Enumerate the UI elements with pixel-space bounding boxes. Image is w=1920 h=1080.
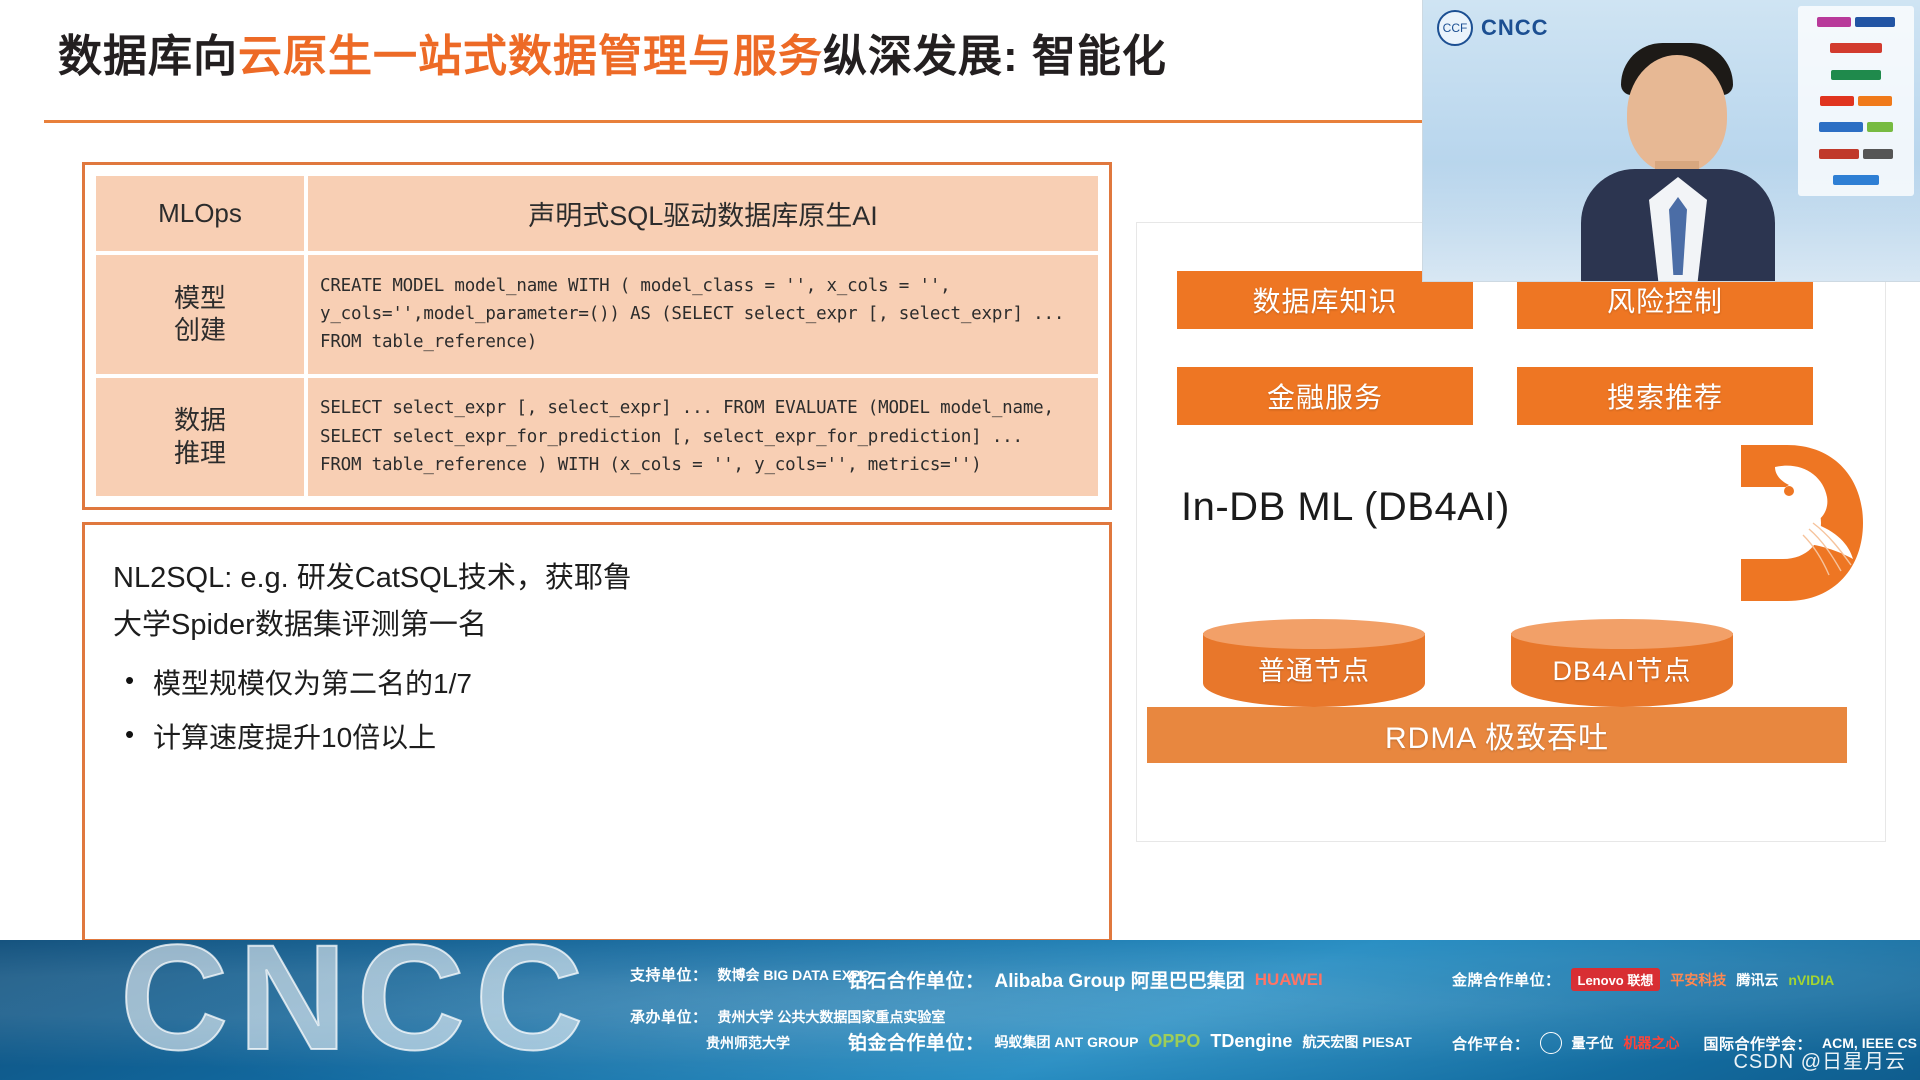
table-row: MLOps 声明式SQL驱动数据库原生AI (96, 176, 1098, 251)
sponsor-logo: 平安科技 (1670, 970, 1726, 990)
sponsor-chip (1858, 96, 1892, 106)
in-db-ml-label: In-DB ML (DB4AI) (1181, 485, 1510, 530)
footer-label: 承办单位： (630, 1006, 708, 1027)
sponsor-footer: CNCC 支持单位： 数博会 BIG DATA EXPO 承办单位： 贵州大学 … (0, 940, 1920, 1080)
nl2sql-card: NL2SQL: e.g. 研发CatSQL技术，获耶鲁大学Spider数据集评测… (82, 522, 1112, 942)
app-box-search-recommend[interactable]: 搜索推荐 (1517, 367, 1813, 425)
sponsor-chip (1831, 70, 1881, 80)
cylinder-top (1203, 619, 1425, 649)
footer-group-platinum: 铂金合作单位： 蚂蚁集团 ANT GROUP OPPO TDengine 航天宏… (848, 1028, 1412, 1055)
nl2sql-description-block: NL2SQL: e.g. 研发CatSQL技术，获耶鲁大学Spider数据集评测… (113, 555, 633, 759)
node-cylinder-normal: 普通节点 (1203, 619, 1425, 711)
list-item: 模型规模仅为第二名的1/7 (113, 663, 633, 705)
sponsor-chip (1833, 175, 1879, 185)
footer-label: 金牌合作单位： (1452, 969, 1561, 990)
footer-label: 支持单位： (630, 964, 708, 985)
rdma-foundation-bar: RDMA 极致吞吐 (1147, 707, 1847, 763)
db4ai-architecture-panel: 数据库知识 风险控制 金融服务 搜索推荐 In-DB ML (DB4AI) 普通… (1136, 222, 1886, 842)
title-suffix: 纵深发展: 智能化 (823, 32, 1167, 81)
sponsor-row (1802, 116, 1910, 139)
page-title: 数据库向云原生一站式数据管理与服务纵深发展: 智能化 (58, 16, 1358, 88)
cncc-watermark: CNCC (120, 940, 593, 1072)
presenter-webcam-overlay: CCF CNCC (1422, 0, 1920, 282)
row-label-data-inference: 数据 推理 (96, 378, 304, 496)
footer-group-support: 支持单位： 数博会 BIG DATA EXPO (630, 964, 871, 985)
cncc-logo: CCF CNCC (1437, 10, 1549, 46)
sponsor-logo: Alibaba Group 阿里巴巴集团 (995, 966, 1245, 993)
csdn-credit: CSDN @日星月云 (1733, 1045, 1906, 1074)
mlops-sql-card: MLOps 声明式SQL驱动数据库原生AI 模型 创建 CREATE MODEL… (82, 162, 1112, 510)
footer-label: 铂金合作单位： (848, 1028, 985, 1055)
node-label-db4ai: DB4AI节点 (1511, 657, 1733, 687)
slide-canvas: 数据库向云原生一站式数据管理与服务纵深发展: 智能化 MLOps 声明式SQL驱… (0, 0, 1920, 1080)
title-highlight: 云原生一站式数据管理与服务 (238, 32, 823, 81)
row-label-mlops: MLOps (96, 176, 304, 251)
sponsor-logo: 数博会 BIG DATA EXPO (718, 965, 872, 985)
sponsor-chip (1820, 96, 1854, 106)
sponsor-logo: 贵州师范大学 (706, 1033, 790, 1053)
sponsor-logo: nVIDIA (1788, 972, 1834, 988)
sponsor-row (1802, 10, 1910, 33)
sponsor-chip (1819, 149, 1859, 159)
ccf-emblem-text: CCF (1443, 21, 1468, 35)
sponsor-logo: HUAWEI (1255, 970, 1323, 990)
sponsor-chip (1867, 122, 1893, 132)
sponsor-row (1802, 36, 1910, 59)
node-label-normal: 普通节点 (1203, 657, 1425, 687)
footer-group-diamond: 钻石合作单位： Alibaba Group 阿里巴巴集团 HUAWEI (848, 966, 1323, 993)
nl2sql-paragraph: NL2SQL: e.g. 研发CatSQL技术，获耶鲁大学Spider数据集评测… (113, 555, 633, 649)
quantum-bit-icon (1540, 1032, 1562, 1054)
app-box-financial-service[interactable]: 金融服务 (1177, 367, 1473, 425)
presenter-figure (1573, 41, 1783, 281)
footer-group-platform: 合作平台： 量子位 机器之心 国际合作学会： ACM, IEEE CS (1452, 1032, 1917, 1054)
sponsor-logo: TDengine (1210, 1031, 1292, 1052)
sponsor-logo: 贵州大学 公共大数据国家重点实验室 (718, 1007, 946, 1027)
footer-group-organizer: 承办单位： 贵州大学 公共大数据国家重点实验室 贵州师范大学 (630, 1006, 945, 1053)
cylinder-top (1511, 619, 1733, 649)
sponsor-logo: 腾讯云 (1736, 970, 1778, 990)
sponsor-chip (1863, 149, 1893, 159)
table-row: 数据 推理 SELECT select_expr [, select_expr]… (96, 378, 1098, 496)
db-mascot-logo-icon (1717, 439, 1867, 607)
sponsor-logo: Lenovo 联想 (1571, 968, 1661, 991)
sponsor-logo: 量子位 (1572, 1033, 1614, 1053)
nl2sql-bullet-list: 模型规模仅为第二名的1/7 计算速度提升10倍以上 (113, 663, 633, 759)
sponsor-row (1802, 89, 1910, 112)
sponsor-logo: ACM, IEEE CS (1822, 1035, 1917, 1051)
footer-label: 钻石合作单位： (848, 966, 985, 993)
sponsor-row (1802, 169, 1910, 192)
row-content-mlops: 声明式SQL驱动数据库原生AI (308, 176, 1098, 251)
row-code-data-inference: SELECT select_expr [, select_expr] ... F… (308, 378, 1098, 496)
row-label-model-create: 模型 创建 (96, 255, 304, 373)
sponsor-row (1802, 142, 1910, 165)
row-code-model-create: CREATE MODEL model_name WITH ( model_cla… (308, 255, 1098, 373)
sponsor-chip (1819, 122, 1863, 132)
table-row: 模型 创建 CREATE MODEL model_name WITH ( mod… (96, 255, 1098, 373)
mlops-table: MLOps 声明式SQL驱动数据库原生AI 模型 创建 CREATE MODEL… (92, 172, 1102, 500)
sponsor-logo: OPPO (1148, 1031, 1200, 1052)
ccf-emblem-icon: CCF (1437, 10, 1473, 46)
node-cylinder-db4ai: DB4AI节点 (1511, 619, 1733, 711)
presenter-head (1627, 55, 1727, 173)
title-prefix: 数据库向 (58, 32, 238, 81)
cncc-wordmark: CNCC (1481, 15, 1549, 41)
sponsor-row (1802, 63, 1910, 86)
list-item: 计算速度提升10倍以上 (113, 717, 633, 759)
sponsor-chip (1817, 17, 1851, 27)
sponsor-chip (1855, 17, 1895, 27)
sponsor-logo: 蚂蚁集团 ANT GROUP (995, 1032, 1139, 1052)
footer-label: 国际合作学会： (1704, 1033, 1813, 1054)
footer-group-gold: 金牌合作单位： Lenovo 联想 平安科技 腾讯云 nVIDIA (1452, 968, 1834, 991)
sponsor-logo: 机器之心 (1624, 1033, 1680, 1053)
footer-label: 合作平台： (1452, 1033, 1530, 1054)
sponsor-logo: 航天宏图 PIESAT (1302, 1032, 1411, 1052)
sponsor-chip (1830, 43, 1882, 53)
webcam-sponsor-strip (1798, 6, 1914, 196)
